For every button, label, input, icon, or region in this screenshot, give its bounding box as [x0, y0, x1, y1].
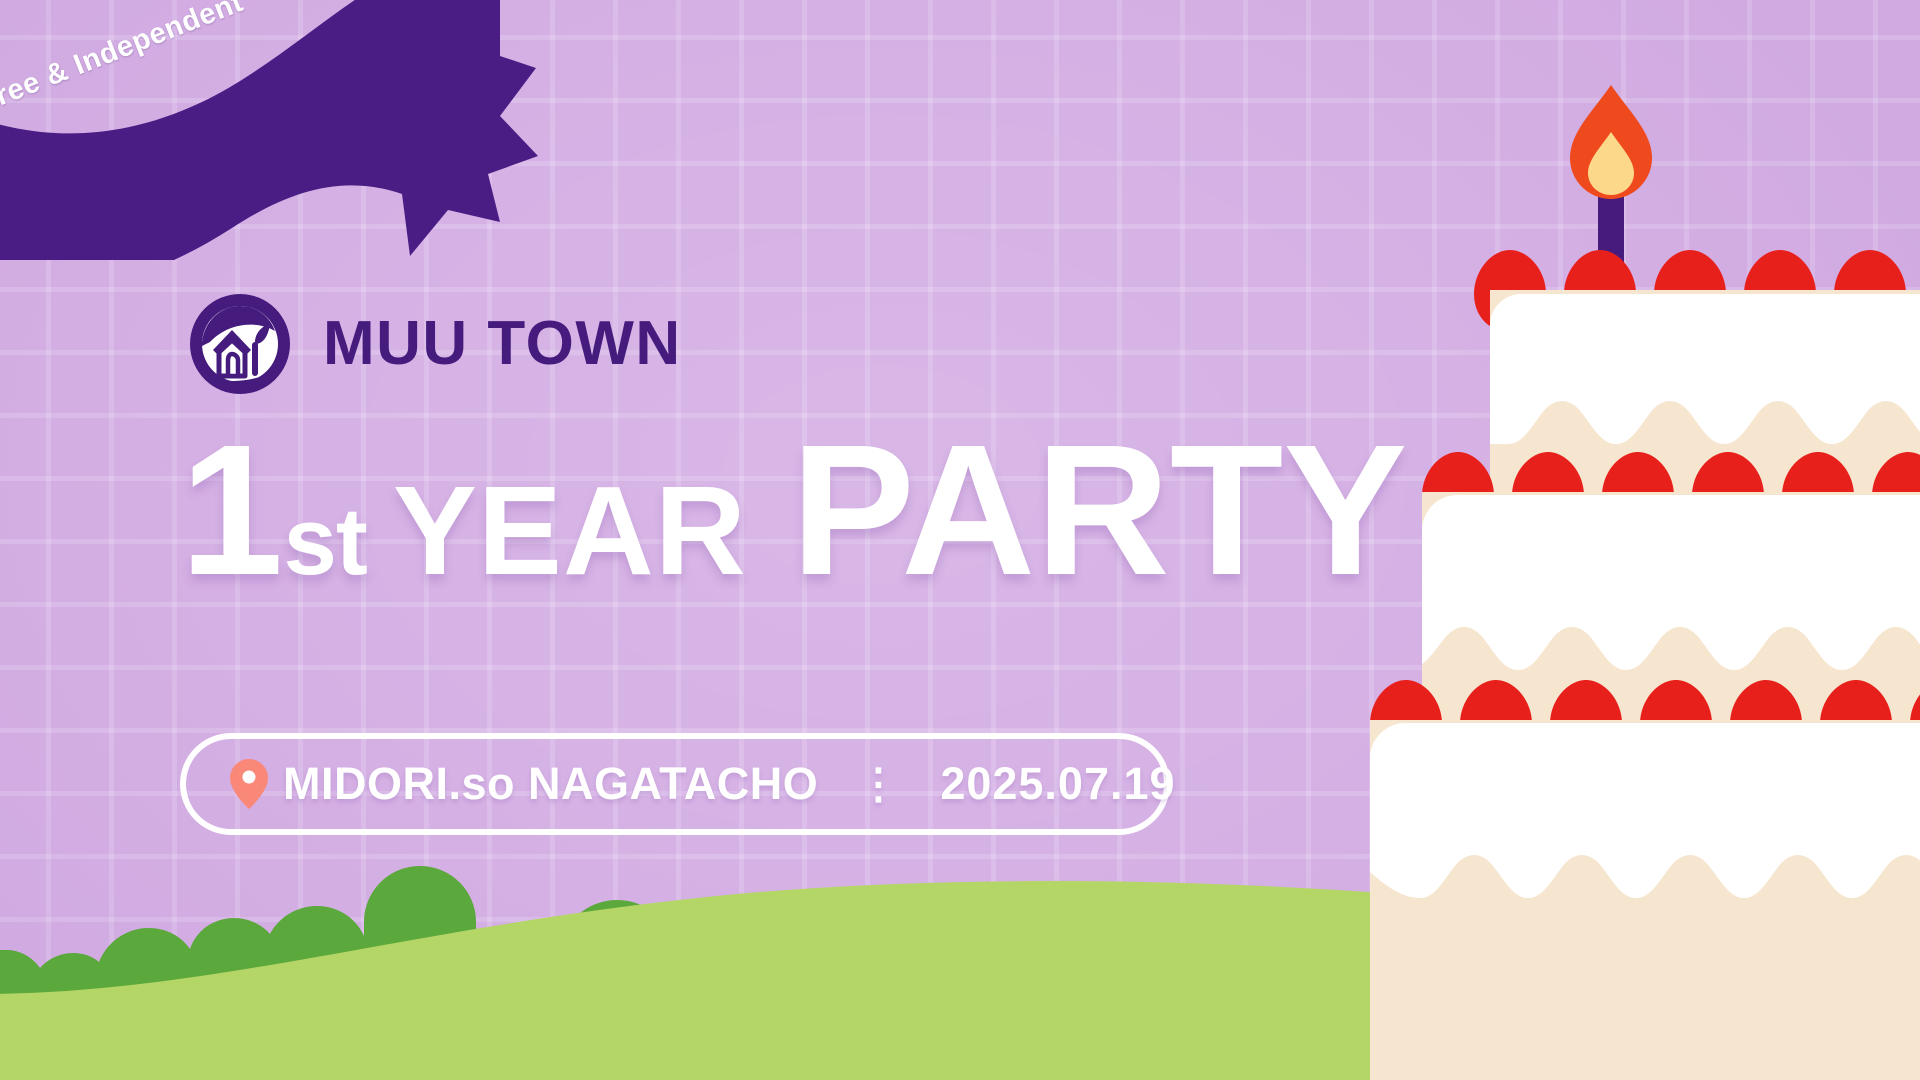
- headline-ordinal-suffix: st: [283, 488, 366, 595]
- event-info-pill: MIDORI.so NAGATACHO ⋮ 2025.07.19: [180, 733, 1170, 835]
- headline-word-year: YEAR: [393, 460, 747, 601]
- event-separator: ⋮: [857, 763, 899, 805]
- page-title: 1stYEARPARTY: [180, 418, 1510, 604]
- event-date: 2025.07.19: [940, 758, 1175, 810]
- brand-name: MUU TOWN: [323, 313, 682, 375]
- event-venue: MIDORI.so NAGATACHO: [283, 758, 818, 810]
- map-pin-icon: [230, 759, 268, 809]
- brand-lockup: MUU TOWN: [186, 290, 682, 398]
- poster-canvas: Free & Independent MUU TOWN 1stYEARPARTY: [0, 0, 1920, 1080]
- headline-word-party: PARTY: [791, 407, 1408, 614]
- headline-ordinal-number: 1: [180, 407, 281, 614]
- house-in-circle-logo-icon: [186, 290, 294, 398]
